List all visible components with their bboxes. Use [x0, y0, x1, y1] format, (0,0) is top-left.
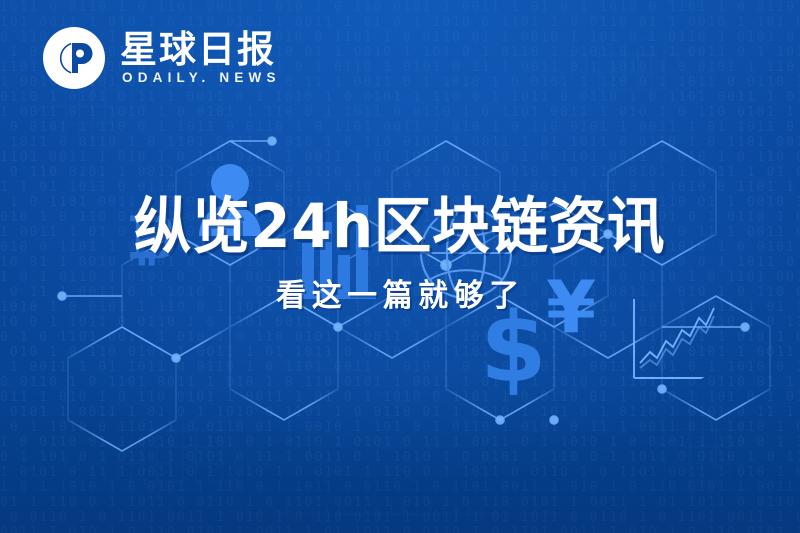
- odaily-logo: 星球日报 ODAILY. NEWS: [42, 26, 281, 90]
- subline-container: 看这一篇就够了: [0, 281, 800, 312]
- odaily-banner-image: 1011 0 0110 1 0 1101 0011 1 010 1 0 110 …: [0, 0, 800, 533]
- headline-container: 纵览24h区块链资讯: [0, 196, 800, 257]
- odaily-circle-p-mark: [42, 26, 106, 90]
- dollar-symbol: $: [480, 300, 547, 396]
- headline-sub-text: 看这一篇就够了: [276, 281, 525, 312]
- headline-main-text: 纵览24h区块链资讯: [134, 196, 665, 257]
- logo-chinese-name: 星球日报: [120, 31, 281, 68]
- logo-english-name: ODAILY. NEWS: [120, 71, 281, 85]
